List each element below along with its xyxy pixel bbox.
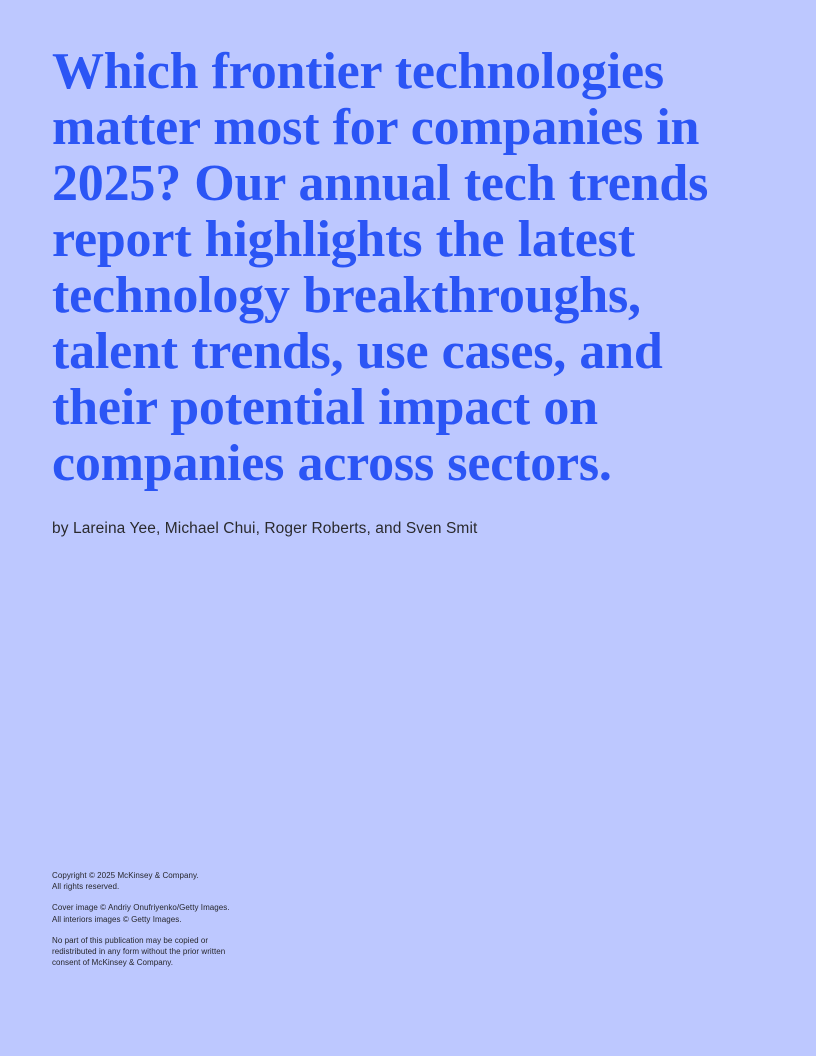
reuse-notice-line-3: consent of McKinsey & Company. (52, 957, 312, 968)
image-credit-line-2: All interiors images © Getty Images. (52, 914, 312, 925)
reuse-notice-line-1: No part of this publication may be copie… (52, 935, 312, 946)
copyright-block: Copyright © 2025 McKinsey & Company. All… (52, 870, 312, 892)
copyright-line-1: Copyright © 2025 McKinsey & Company. (52, 870, 312, 881)
image-credits-block: Cover image © Andriy Onufriyenko/Getty I… (52, 902, 312, 924)
copyright-line-2: All rights reserved. (52, 881, 312, 892)
reuse-notice-line-2: redistributed in any form without the pr… (52, 946, 312, 957)
image-credit-line-1: Cover image © Andriy Onufriyenko/Getty I… (52, 902, 312, 913)
byline-authors: by Lareina Yee, Michael Chui, Roger Robe… (52, 518, 477, 540)
reuse-notice-block: No part of this publication may be copie… (52, 935, 312, 969)
page-title: Which frontier technologies matter most … (52, 44, 722, 492)
cover-page: Which frontier technologies matter most … (0, 0, 816, 1056)
colophon: Copyright © 2025 McKinsey & Company. All… (52, 870, 312, 968)
